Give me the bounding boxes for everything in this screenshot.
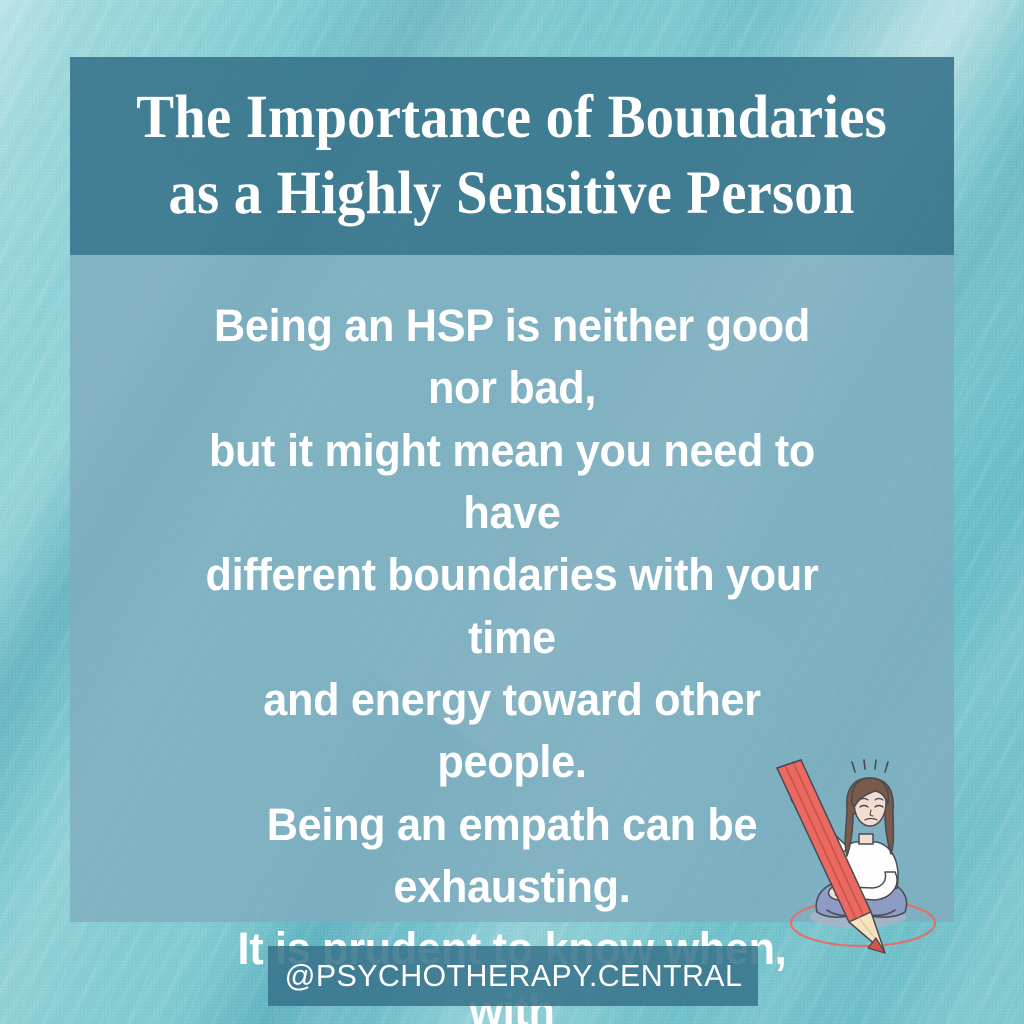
stress-lines <box>852 760 888 772</box>
body-line-1: Being an HSP is neither good nor bad, <box>214 300 810 413</box>
body-line-2: but it might mean you need to have <box>209 425 815 538</box>
body-line-5: Being an empath can be exhausting. <box>267 799 758 912</box>
poster-canvas: The Importance of Boundaries as a Highly… <box>0 0 1024 1024</box>
title-band: The Importance of Boundaries as a Highly… <box>70 57 954 255</box>
social-handle: @PSYCHOTHERAPY.CENTRAL <box>284 958 742 994</box>
neck <box>859 834 873 844</box>
title-line-1: The Importance of Boundaries <box>137 84 888 151</box>
woman-drawing-circle-illustration <box>755 760 965 990</box>
handle-bar: @PSYCHOTHERAPY.CENTRAL <box>268 946 758 1006</box>
body-line-4: and energy toward other people. <box>263 674 760 787</box>
title-line-2: as a Highly Sensitive Person <box>169 160 855 227</box>
body-paragraph: Being an HSP is neither good nor bad, bu… <box>193 295 830 1024</box>
body-line-3: different boundaries with your time <box>205 549 818 662</box>
page-title: The Importance of Boundaries as a Highly… <box>127 80 896 231</box>
